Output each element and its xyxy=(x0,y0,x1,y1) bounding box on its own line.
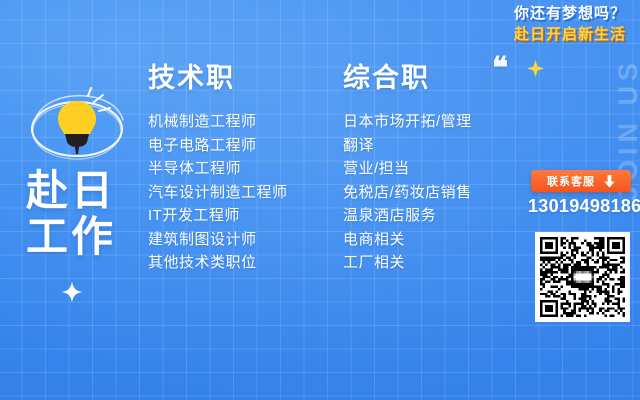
column-heading-general: 综合职 xyxy=(343,62,472,94)
qr-code-image xyxy=(540,237,625,317)
list-item[interactable]: 半导体工程师 xyxy=(148,157,288,181)
list-item[interactable]: 其他技术类职位 xyxy=(148,251,288,275)
list-item[interactable]: 温泉酒店服务 xyxy=(343,204,472,228)
qr-code[interactable] xyxy=(535,232,630,322)
list-item[interactable]: 建筑制图设计师 xyxy=(148,228,288,252)
contact-support-button[interactable]: 联系客服 xyxy=(531,170,631,192)
list-item[interactable]: 电子电路工程师 xyxy=(148,134,288,158)
page-title-line2: 工作 xyxy=(26,214,116,260)
job-list-technical: 机械制造工程师 电子电路工程师 半导体工程师 汽车设计制造工程师 IT开发工程师… xyxy=(148,110,288,275)
job-column-general: 综合职 日本市场开拓/管理 翻译 营业/担当 免税店/药妆店销售 温泉酒店服务 … xyxy=(343,62,472,275)
contact-support-label: 联系客服 xyxy=(547,173,595,189)
slogan-group: 你还有梦想吗？ 赴日开启新生活 xyxy=(514,4,626,46)
slogan-secondary: 赴日开启新生活 xyxy=(514,24,626,46)
arrow-down-icon xyxy=(604,175,615,188)
list-item[interactable]: 营业/担当 xyxy=(343,157,472,181)
phone-number[interactable]: 13019498186 xyxy=(528,196,634,217)
poster-canvas: 你还有梦想吗？ 赴日开启新生活 ❝ xyxy=(0,0,640,400)
slogan-primary: 你还有梦想吗？ xyxy=(514,4,626,24)
page-title: 赴日 工作 xyxy=(26,168,116,260)
list-item[interactable]: 日本市场开拓/管理 xyxy=(343,110,472,134)
quote-mark-icon: ❝ xyxy=(492,54,508,84)
job-list-general: 日本市场开拓/管理 翻译 营业/担当 免税店/药妆店销售 温泉酒店服务 电商相关… xyxy=(343,110,472,275)
star-icon-white xyxy=(61,281,83,303)
list-item[interactable]: IT开发工程师 xyxy=(148,204,288,228)
list-item[interactable]: 机械制造工程师 xyxy=(148,110,288,134)
list-item[interactable]: 电商相关 xyxy=(343,228,472,252)
list-item[interactable]: 汽车设计制造工程师 xyxy=(148,181,288,205)
page-title-line1: 赴日 xyxy=(26,168,116,214)
list-item[interactable]: 工厂相关 xyxy=(343,251,472,275)
star-icon-yellow xyxy=(527,60,544,77)
job-column-technical: 技术职 机械制造工程师 电子电路工程师 半导体工程师 汽车设计制造工程师 IT开… xyxy=(148,62,288,275)
column-heading-technical: 技术职 xyxy=(148,62,288,94)
lightbulb-icon xyxy=(24,84,130,176)
list-item[interactable]: 免税店/药妆店销售 xyxy=(343,181,472,205)
list-item[interactable]: 翻译 xyxy=(343,134,472,158)
